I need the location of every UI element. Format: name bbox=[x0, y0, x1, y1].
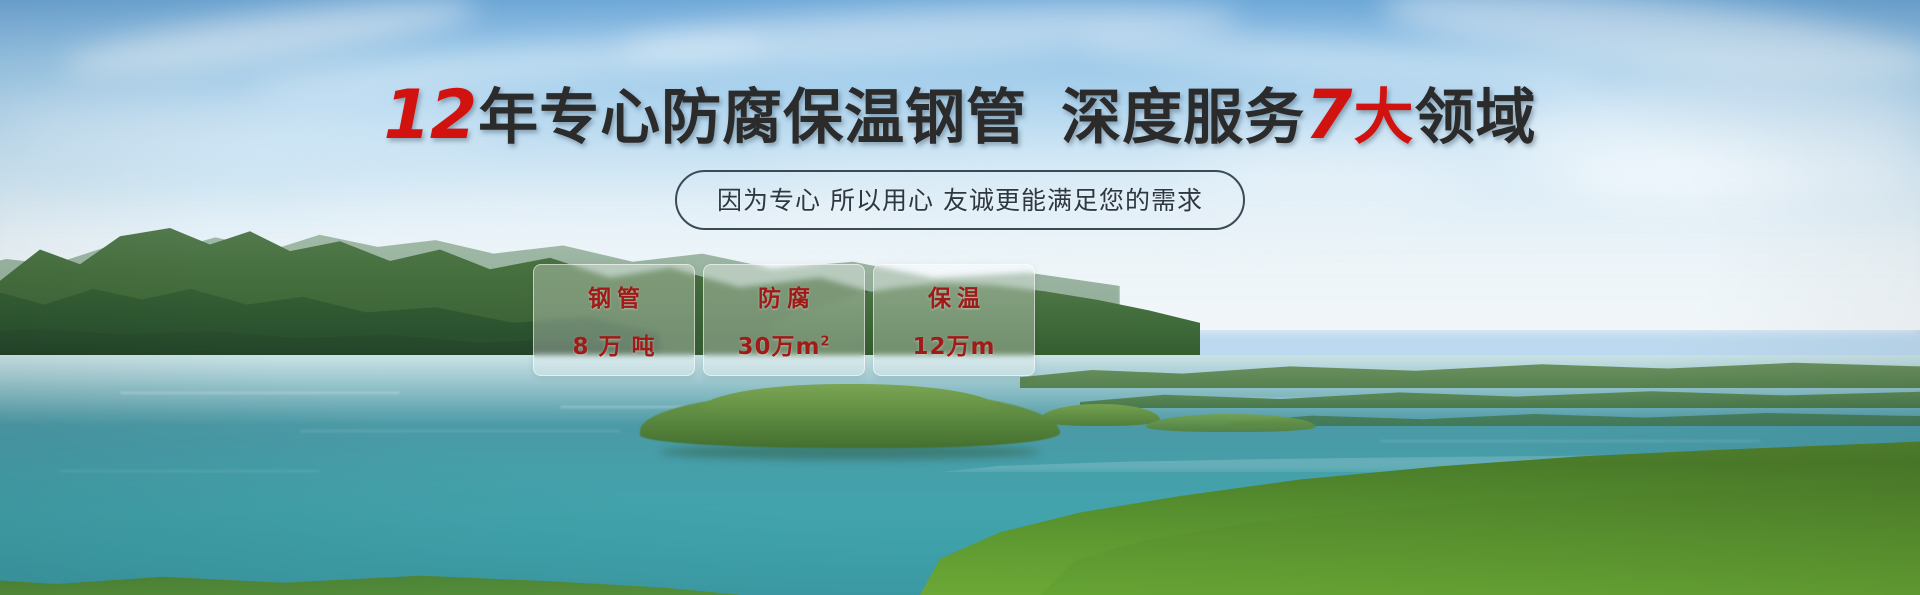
headline-fields-unit: 大 bbox=[1353, 83, 1414, 153]
stat-card-insulation[interactable]: 保温 12万m bbox=[873, 264, 1035, 376]
headline-years-number: 12 bbox=[384, 76, 479, 155]
stat-card-value: 30万m2 bbox=[737, 327, 830, 361]
subtitle-container: 因为专心 所以用心 友诚更能满足您的需求 bbox=[0, 170, 1920, 230]
stat-card-steel-pipe[interactable]: 钢管 8 万 吨 bbox=[533, 264, 695, 376]
subtitle-pill: 因为专心 所以用心 友诚更能满足您的需求 bbox=[675, 170, 1245, 230]
headline-segment-2: 深度服务 bbox=[1061, 83, 1305, 153]
stat-card-label: 防腐 bbox=[752, 279, 816, 313]
headline-segment-3: 领域 bbox=[1414, 83, 1536, 153]
banner-content: 12年专心防腐保温钢管深度服务7大领域 因为专心 所以用心 友诚更能满足您的需求… bbox=[0, 0, 1920, 595]
headline-fields-number: 7 bbox=[1305, 76, 1353, 155]
headline-segment-1: 年专心防腐保温钢管 bbox=[478, 83, 1027, 153]
hero-banner: 12年专心防腐保温钢管深度服务7大领域 因为专心 所以用心 友诚更能满足您的需求… bbox=[0, 0, 1920, 595]
stat-card-value-main: 8 万 吨 bbox=[572, 334, 655, 360]
stat-card-value-superscript: 2 bbox=[820, 334, 830, 349]
stat-card-anticorrosion[interactable]: 防腐 30万m2 bbox=[703, 264, 865, 376]
stat-card-value-main: 30万m bbox=[737, 334, 820, 360]
stat-card-value: 8 万 吨 bbox=[572, 327, 655, 361]
stat-cards: 钢管 8 万 吨 防腐 30万m2 保温 12万m bbox=[533, 264, 1035, 376]
stat-card-value: 12万m bbox=[913, 327, 996, 361]
stat-card-value-main: 12万m bbox=[913, 334, 996, 360]
headline: 12年专心防腐保温钢管深度服务7大领域 bbox=[0, 82, 1920, 150]
stat-card-label: 保温 bbox=[922, 279, 986, 313]
stat-card-label: 钢管 bbox=[582, 279, 646, 313]
